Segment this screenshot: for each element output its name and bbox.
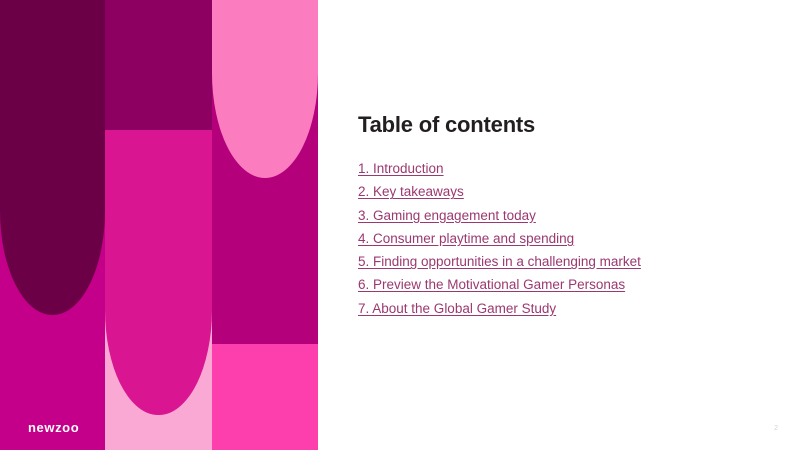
list-item: 3. Gaming engagement today xyxy=(358,204,778,227)
graphic-column-1 xyxy=(0,0,105,450)
dark-plum-pill-shape xyxy=(0,0,105,315)
toc-link-about-global-gamer-study[interactable]: 7. About the Global Gamer Study xyxy=(358,297,556,320)
toc-link-finding-opportunities[interactable]: 5. Finding opportunities in a challengin… xyxy=(358,250,641,273)
table-of-contents-list: 1. Introduction 2. Key takeaways 3. Gami… xyxy=(358,157,778,320)
newzoo-logo: newzoo xyxy=(28,421,79,434)
bright-pink-band-shape xyxy=(212,344,318,450)
toc-link-motivational-gamer-personas[interactable]: 6. Preview the Motivational Gamer Person… xyxy=(358,273,625,296)
list-item: 6. Preview the Motivational Gamer Person… xyxy=(358,273,778,296)
page-number: 2 xyxy=(774,425,778,432)
plum-band-shape xyxy=(105,0,212,130)
list-item: 7. About the Global Gamer Study xyxy=(358,297,778,320)
toc-link-consumer-playtime-and-spending[interactable]: 4. Consumer playtime and spending xyxy=(358,227,574,250)
toc-link-gaming-engagement-today[interactable]: 3. Gaming engagement today xyxy=(358,204,536,227)
graphic-column-3 xyxy=(212,0,318,450)
magenta-band-shape xyxy=(212,178,318,344)
brand-graphic-panel xyxy=(0,0,318,450)
page-title: Table of contents xyxy=(358,112,535,138)
list-item: 2. Key takeaways xyxy=(358,180,778,203)
toc-link-introduction[interactable]: 1. Introduction xyxy=(358,157,444,180)
graphic-column-2 xyxy=(105,0,212,450)
magenta-pill-shape xyxy=(105,130,212,415)
toc-link-key-takeaways[interactable]: 2. Key takeaways xyxy=(358,180,464,203)
slide: newzoo Table of contents 1. Introduction… xyxy=(0,0,800,450)
list-item: 5. Finding opportunities in a challengin… xyxy=(358,250,778,273)
content-area: Table of contents 1. Introduction 2. Key… xyxy=(358,0,778,450)
list-item: 4. Consumer playtime and spending xyxy=(358,227,778,250)
list-item: 1. Introduction xyxy=(358,157,778,180)
